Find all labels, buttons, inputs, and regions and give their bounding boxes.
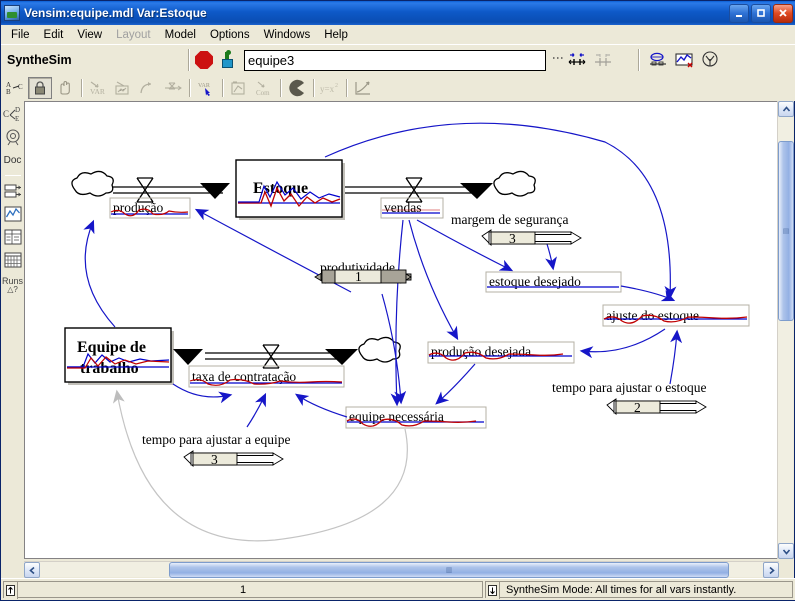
menu-edit[interactable]: Edit: [37, 27, 71, 43]
lock-tool-icon[interactable]: [28, 77, 52, 99]
close-button[interactable]: [773, 4, 793, 23]
stock-label-equipe-line1[interactable]: Equipe de: [77, 339, 146, 356]
cloud-sink-vendas: [494, 171, 535, 196]
sketch-sep-5: [313, 79, 315, 97]
reference-mode-tool-icon[interactable]: [351, 77, 375, 99]
slider-value-tempo-estoque: 2: [634, 400, 641, 415]
gaming-tool-icon[interactable]: [2, 249, 24, 271]
causes-tree-tool-icon[interactable]: C D E: [2, 103, 24, 125]
aux-equipe-necessaria[interactable]: equipe necessária: [346, 407, 486, 428]
slider-label-margem-de-seguranca: margem de segurança: [451, 212, 568, 227]
sketch-sep-2: [189, 79, 191, 97]
flow-taxa-de-contratacao[interactable]: taxa de contratação: [173, 337, 400, 387]
scroll-down-button[interactable]: [778, 543, 794, 559]
aux-producao-desejada[interactable]: produção desejada: [428, 342, 574, 363]
run-options-button[interactable]: ⋮: [552, 52, 564, 68]
slider-value-produtividade: 1: [355, 269, 362, 284]
diagram-surface[interactable]: produção Estoque: [25, 102, 765, 558]
status-message-text: SyntheSim Mode: All times for all vars i…: [506, 584, 736, 596]
runs-compare-tool-icon[interactable]: Runs △?: [2, 272, 24, 298]
svg-text:VAR: VAR: [90, 87, 105, 96]
vensim-window: Vensim:equipe.mdl Var:Estoque File Edit …: [0, 0, 795, 601]
link-equipe-to-taxa[interactable]: [173, 384, 230, 397]
link-producao-desejada-to-equipe-necessaria[interactable]: [437, 364, 475, 403]
fit-horizontal-icon[interactable]: [566, 49, 588, 71]
menu-model[interactable]: Model: [158, 27, 203, 43]
svg-text:E: E: [15, 115, 19, 123]
comment-tool-icon: Com: [252, 77, 276, 99]
svg-text:y=x: y=x: [320, 84, 335, 94]
scroll-right-button[interactable]: [763, 562, 779, 578]
link-vendas-to-equipe-necessaria[interactable]: [396, 220, 403, 404]
flow-arrowhead-vendas: [460, 183, 493, 199]
window-title: Vensim:equipe.mdl Var:Estoque: [24, 6, 207, 20]
flow-label-producao[interactable]: produção: [113, 200, 163, 215]
minimize-button[interactable]: [729, 4, 749, 23]
document-tool-icon[interactable]: Doc: [2, 149, 24, 171]
flow-arrowhead-taxa-right: [325, 349, 358, 365]
analysis-toolbar: C D E Doc: [1, 101, 24, 559]
sketch-toolbar: A B C VAR: [1, 75, 795, 101]
menu-layout: Layout: [109, 27, 158, 43]
shadow-variable-tool-icon[interactable]: VAR: [194, 77, 218, 99]
svg-text:D: D: [15, 106, 20, 114]
stock-equipe-de-trabalho[interactable]: Equipe de trabalho: [65, 328, 174, 385]
arrow-tool-icon: [136, 77, 160, 99]
vertical-scroll-thumb[interactable]: ▤: [778, 141, 794, 321]
link-equipe-necessaria-to-taxa[interactable]: [297, 395, 347, 417]
causes-strip-tool-icon[interactable]: [2, 180, 24, 202]
slider-margem-de-seguranca[interactable]: margem de segurança 3: [451, 212, 581, 246]
link-tempo-equipe-to-taxa[interactable]: [247, 395, 265, 427]
menu-bar: File Edit View Layout Model Options Wind…: [1, 25, 795, 44]
vensim-app-icon: [4, 5, 20, 21]
link-estoque-desejado-to-ajuste[interactable]: [621, 286, 673, 300]
svg-text:Com: Com: [256, 89, 270, 97]
rate-valve-tool-icon: [161, 77, 185, 99]
link-equipe-to-producao[interactable]: [85, 222, 115, 327]
svg-text:C: C: [18, 83, 23, 91]
horizontal-scrollbar[interactable]: ▥: [24, 561, 779, 577]
run-name-input[interactable]: [244, 50, 546, 71]
menu-options[interactable]: Options: [203, 27, 257, 43]
status-time-cell[interactable]: 1: [3, 581, 483, 598]
slider-tempo-para-ajustar-a-equipe[interactable]: tempo para ajustar a equipe 3: [142, 432, 290, 467]
valve-taxa[interactable]: [263, 345, 279, 368]
aux-ajuste-do-estoque[interactable]: ajuste do estoque: [603, 305, 749, 326]
box-variable-tool-icon: [111, 77, 135, 99]
causes-tree-icon[interactable]: [699, 49, 721, 71]
menu-help[interactable]: Help: [317, 27, 355, 43]
aux-estoque-desejado[interactable]: estoque desejado: [486, 272, 621, 292]
stock-flow-diagram[interactable]: produção Estoque: [25, 102, 778, 558]
stop-simulation-button[interactable]: STOP: [195, 51, 213, 69]
window-controls: [729, 4, 795, 23]
synthesim-mode-label: SyntheSim: [1, 53, 183, 67]
status-bar: 1 SyntheSim Mode: All times for all vars…: [1, 578, 795, 600]
sketch-sep-4: [280, 79, 282, 97]
input-output-tool-icon: [227, 77, 251, 99]
stock-estoque[interactable]: Estoque: [236, 160, 345, 220]
vertical-scrollbar[interactable]: ▤: [777, 101, 793, 559]
scroll-up-button[interactable]: [778, 101, 794, 117]
flow-label-taxa-de-contratacao[interactable]: taxa de contratação: [192, 369, 296, 384]
sidebar-separator: [5, 175, 21, 176]
toolbar-separator-2: [638, 49, 640, 71]
horizontal-scroll-thumb[interactable]: ▥: [169, 562, 729, 578]
link-tempo-estoque-to-ajuste[interactable]: [670, 332, 677, 384]
menu-view[interactable]: View: [70, 27, 109, 43]
menu-windows[interactable]: Windows: [257, 27, 318, 43]
sketch-sep-1: [81, 79, 83, 97]
slider-value-tempo-equipe: 3: [211, 452, 218, 467]
slider-value-margem-de-seguranca: 3: [509, 231, 516, 246]
graph-icon[interactable]: [673, 49, 695, 71]
link-ajuste-to-producao-desejada[interactable]: [582, 329, 665, 352]
variable-tool-icon: VAR: [86, 77, 110, 99]
slider-tempo-para-ajustar-o-estoque[interactable]: tempo para ajustar o estoque 2: [552, 380, 706, 415]
cloud-source-producao: [72, 171, 113, 196]
scroll-left-button[interactable]: [24, 562, 40, 578]
title-bar: Vensim:equipe.mdl Var:Estoque: [1, 1, 795, 25]
svg-text:B: B: [6, 88, 11, 96]
table-tool-icon[interactable]: [2, 226, 24, 248]
sketch-sep-6: [346, 79, 348, 97]
fit-all-icon: [592, 49, 614, 71]
slider-produtividade[interactable]: produtividade 1: [315, 260, 411, 284]
slider-label-tempo-equipe: tempo para ajustar a equipe: [142, 432, 290, 447]
abstract-tool-icon[interactable]: A B C: [3, 77, 27, 99]
move-hand-tool-icon[interactable]: [53, 77, 77, 99]
flow-producao[interactable]: produção: [72, 171, 230, 218]
synthesim-toolbar: SyntheSim STOP ⋮: [1, 44, 795, 75]
runs-sub-label: △?: [7, 286, 18, 294]
flow-arrowhead-producao: [200, 183, 230, 199]
equation-tool-icon: y=x 2: [318, 77, 342, 99]
menu-file[interactable]: File: [4, 27, 37, 43]
svg-text:VAR: VAR: [198, 83, 210, 89]
sketch-sep-3: [222, 79, 224, 97]
svg-text:C: C: [3, 109, 9, 119]
causes-strip-icon[interactable]: [647, 49, 669, 71]
link-vendas-to-estoque-desejado[interactable]: [417, 220, 511, 270]
delete-tool-icon[interactable]: [285, 77, 309, 99]
link-margem-to-estoque-desejado[interactable]: [547, 244, 553, 268]
status-time-stepper-icon[interactable]: [4, 582, 18, 599]
svg-text:2: 2: [335, 83, 338, 89]
graph-tool-icon[interactable]: [2, 203, 24, 225]
loops-tool-icon[interactable]: [2, 126, 24, 148]
flow-vendas[interactable]: vendas: [345, 171, 535, 218]
flow-arrowhead-taxa-left: [173, 349, 203, 365]
status-mode-icon[interactable]: [486, 582, 500, 599]
status-message-cell: SyntheSim Mode: All times for all vars i…: [485, 581, 793, 598]
model-canvas[interactable]: produção Estoque: [24, 101, 779, 559]
slider-label-tempo-estoque: tempo para ajustar o estoque: [552, 380, 706, 395]
pipe-taxa: [205, 353, 345, 359]
status-time-value: 1: [240, 584, 246, 596]
run-simulation-button[interactable]: [218, 50, 238, 70]
aux-label-producao-desejada[interactable]: produção desejada: [431, 344, 531, 359]
maximize-button[interactable]: [751, 4, 771, 23]
toolbar-separator-1: [188, 49, 190, 71]
